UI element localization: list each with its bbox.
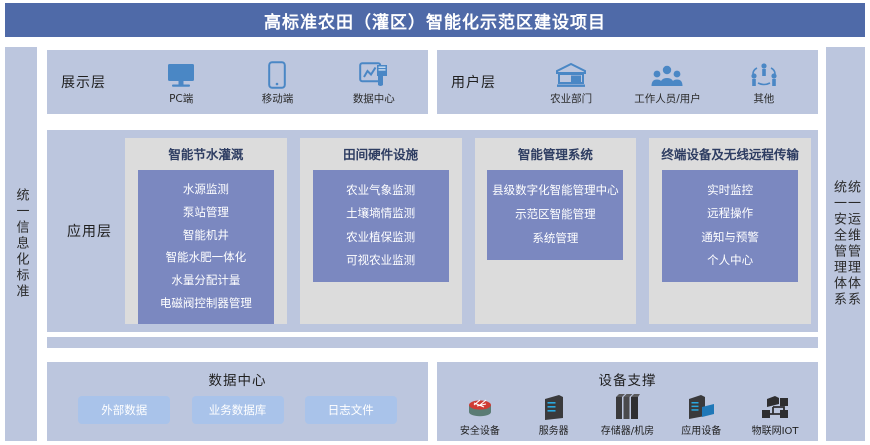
user-item-other[interactable]: 其他 (721, 59, 807, 106)
app-column-items: 实时监控 远程操作 通知与预警 个人中心 (662, 170, 798, 282)
equipment-item-security-label: 安全设备 (460, 422, 500, 437)
app-item[interactable]: 泵站管理 (182, 204, 230, 222)
data-center-pills: 外部数据 业务数据库 日志文件 (47, 396, 428, 424)
equipment-item-storage[interactable]: 存储器/机房 (591, 391, 663, 437)
app-item[interactable]: 农业气象监测 (345, 182, 416, 200)
equipment-item-server-label: 服务器 (539, 422, 569, 437)
app-item[interactable]: 土壤墒情监测 (345, 205, 416, 223)
user-layer-label: 用户层 (451, 72, 496, 92)
app-column-field-hardware: 田间硬件设施 农业气象监测 土壤墒情监测 农业植保监测 可视农业监测 (300, 138, 462, 324)
storage-rack-icon (614, 391, 640, 421)
application-layer-label: 应用层 (67, 221, 112, 241)
app-item[interactable]: 水源监测 (182, 181, 230, 199)
app-column-title: 智能管理系统 (512, 147, 599, 163)
data-center-pill-business-db[interactable]: 业务数据库 (192, 396, 284, 424)
display-item-data-center-label: 数据中心 (353, 91, 395, 106)
display-item-pc-label: PC端 (169, 91, 193, 106)
application-device-icon (687, 391, 715, 421)
equipment-item-application[interactable]: 应用设备 (665, 391, 737, 437)
application-layer-columns: 智能节水灌溉 水源监测 泵站管理 智能机井 智能水肥一体化 水量分配计量 电磁阀… (125, 138, 811, 324)
user-layer-band: 用户层 农业部门 (437, 50, 818, 114)
display-item-mobile-label: 移动端 (262, 91, 294, 106)
equipment-item-iot-label: 物联网IOT (752, 422, 799, 437)
app-column-items: 农业气象监测 土壤墒情监测 农业植保监测 可视农业监测 (313, 170, 449, 282)
data-center-pill-log-files[interactable]: 日志文件 (305, 396, 397, 424)
app-item[interactable]: 通知与预警 (700, 229, 760, 247)
app-item[interactable]: 智能水肥一体化 (165, 249, 248, 267)
app-column-terminal-devices: 终端设备及无线远程传输 实时监控 远程操作 通知与预警 个人中心 (649, 138, 811, 324)
app-column-title: 田间硬件设施 (337, 147, 424, 163)
display-layer-items: PC端 移动端 (133, 50, 422, 114)
app-item[interactable]: 实时监控 (706, 182, 754, 200)
app-item[interactable]: 示范区智能管理 (514, 206, 597, 224)
equipment-support-items: 安全设备 服务器 (437, 391, 818, 437)
equipment-item-application-label: 应用设备 (681, 422, 721, 437)
data-center-title: 数据中心 (47, 362, 428, 389)
display-layer-band: 展示层 PC端 移动端 (47, 50, 428, 114)
monitor-icon (166, 59, 196, 89)
left-rail-standards: 统一信息化标准 (5, 47, 37, 441)
application-layer-band: 应用层 智能节水灌溉 水源监测 泵站管理 智能机井 智能水肥一体化 水量分配计量… (47, 130, 818, 332)
people-group-icon (651, 59, 683, 89)
display-item-pc[interactable]: PC端 (138, 59, 224, 106)
app-item[interactable]: 农业植保监测 (345, 229, 416, 247)
app-column-smart-management: 智能管理系统 县级数字化智能管理中心 示范区智能管理 系统管理 (475, 138, 637, 324)
app-column-items: 水源监测 泵站管理 智能机井 智能水肥一体化 水量分配计量 电磁阀控制器管理 (138, 170, 274, 324)
server-icon (542, 391, 566, 421)
app-item[interactable]: 电磁阀控制器管理 (159, 295, 253, 313)
right-rail-label-security: 统一安全管理体系 (832, 180, 845, 308)
user-item-staff[interactable]: 工作人员/用户 (624, 59, 710, 106)
display-layer-label: 展示层 (61, 72, 106, 92)
app-column-items: 县级数字化智能管理中心 示范区智能管理 系统管理 (487, 170, 623, 260)
left-rail-label: 统一信息化标准 (15, 188, 28, 300)
collaboration-icon (749, 59, 779, 89)
data-dashboard-icon (359, 59, 389, 89)
architecture-diagram: 高标准农田（灌区）智能化示范区建设项目 统一信息化标准 统一安全管理体系 统一运… (0, 0, 870, 445)
app-column-title: 终端设备及无线远程传输 (655, 147, 805, 163)
user-layer-items: 农业部门 工作人员/用户 (523, 50, 812, 114)
app-item[interactable]: 水量分配计量 (170, 272, 241, 290)
app-item[interactable]: 县级数字化智能管理中心 (491, 182, 620, 200)
app-item[interactable]: 个人中心 (706, 252, 754, 270)
security-router-icon (465, 391, 495, 421)
equipment-item-storage-label: 存储器/机房 (601, 422, 654, 437)
app-column-smart-irrigation: 智能节水灌溉 水源监测 泵站管理 智能机井 智能水肥一体化 水量分配计量 电磁阀… (125, 138, 287, 324)
right-rail-label-operations: 统一运维管理体系 (846, 180, 859, 308)
mobile-phone-icon (268, 59, 286, 89)
app-item[interactable]: 系统管理 (531, 230, 579, 248)
user-item-other-label: 其他 (753, 91, 774, 106)
page-title: 高标准农田（灌区）智能化示范区建设项目 (5, 3, 865, 37)
app-item[interactable]: 智能机井 (182, 227, 230, 245)
app-column-title: 智能节水灌溉 (162, 147, 249, 163)
equipment-item-security[interactable]: 安全设备 (444, 391, 516, 437)
layer-separator-band (47, 337, 818, 348)
equipment-item-iot[interactable]: 物联网IOT (739, 391, 811, 437)
app-item[interactable]: 远程操作 (706, 205, 754, 223)
equipment-item-server[interactable]: 服务器 (518, 391, 590, 437)
display-item-data-center[interactable]: 数据中心 (331, 59, 417, 106)
data-center-band: 数据中心 外部数据 业务数据库 日志文件 (47, 362, 428, 441)
iot-network-icon (760, 391, 790, 421)
display-item-mobile[interactable]: 移动端 (234, 59, 320, 106)
equipment-support-band: 设备支撑 安全设备 (437, 362, 818, 441)
user-item-staff-label: 工作人员/用户 (634, 91, 701, 106)
government-building-icon (555, 59, 587, 89)
data-center-pill-external[interactable]: 外部数据 (78, 396, 170, 424)
user-item-agriculture-dept[interactable]: 农业部门 (528, 59, 614, 106)
app-item[interactable]: 可视农业监测 (345, 252, 416, 270)
user-item-agriculture-dept-label: 农业部门 (550, 91, 592, 106)
right-rail-management: 统一安全管理体系 统一运维管理体系 (826, 47, 865, 441)
equipment-support-title: 设备支撑 (437, 362, 818, 389)
